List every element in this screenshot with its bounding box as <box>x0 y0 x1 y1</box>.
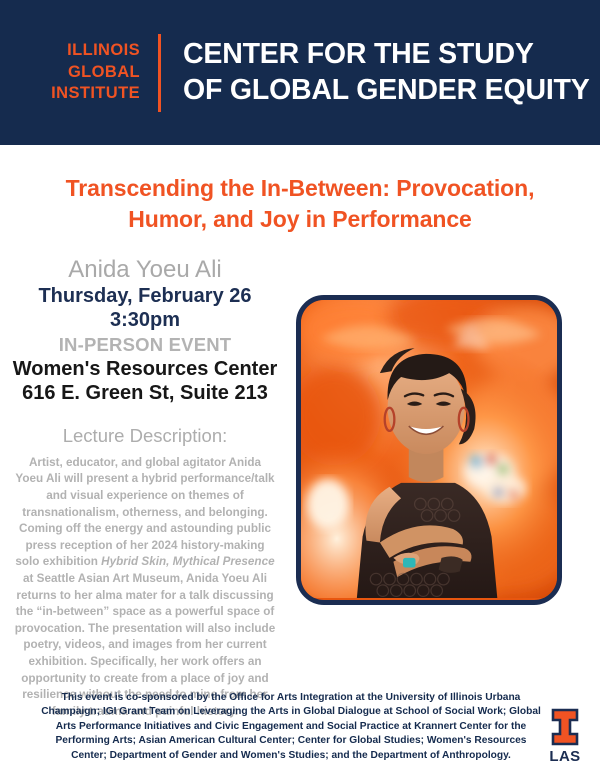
sponsor-credits: This event is co-sponsored by the Office… <box>28 691 554 763</box>
sponsor-line-3: Arts Performance Initiatives and Civic E… <box>28 720 554 734</box>
venue-name: Women's Resources Center <box>6 357 284 381</box>
center-name-line-1: CENTER FOR THE STUDY <box>183 37 590 73</box>
igi-line-1: ILLINOIS <box>67 40 140 62</box>
event-details-section: Anida Yoeu Ali Thursday, February 26 3:3… <box>0 257 600 721</box>
footer: This event is co-sponsored by the Office… <box>0 691 600 777</box>
speaker-photo <box>296 295 562 605</box>
las-logo: LAS <box>542 708 588 765</box>
sponsor-line-2: Champaign; IGI Grant Team on Leveraging … <box>28 705 554 719</box>
speaker-name: Anida Yoeu Ali <box>6 257 284 284</box>
las-label: LAS <box>542 748 588 765</box>
exhibition-title: Hybrid Skin, Mythical Presence <box>101 555 274 568</box>
page-title-line-1: Transcending the In-Between: Provocation… <box>18 173 582 204</box>
page-title: Transcending the In-Between: Provocation… <box>18 173 582 235</box>
speaker-photo-image <box>301 300 557 598</box>
block-i-icon <box>550 708 580 746</box>
header-banner: ILLINOIS GLOBAL INSTITUTE CENTER FOR THE… <box>0 0 600 145</box>
center-name-line-2: OF GLOBAL GENDER EQUITY <box>183 73 590 109</box>
lecture-description-body: Artist, educator, and global agitator An… <box>6 455 284 721</box>
illinois-global-institute-logo: ILLINOIS GLOBAL INSTITUTE <box>22 34 183 112</box>
venue-address: 616 E. Green St, Suite 213 <box>6 381 284 405</box>
event-mode-badge: IN-PERSON EVENT <box>6 333 284 357</box>
speaker-photo-column <box>290 257 600 605</box>
sponsor-line-4: Performing Arts; Asian American Cultural… <box>28 734 554 748</box>
block-i-glyph <box>550 708 580 746</box>
sponsor-line-5: Center; Department of Gender and Women's… <box>28 749 554 763</box>
center-name: CENTER FOR THE STUDY OF GLOBAL GENDER EQ… <box>183 37 590 109</box>
event-info-column: Anida Yoeu Ali Thursday, February 26 3:3… <box>0 257 290 721</box>
igi-line-2: GLOBAL <box>68 62 140 84</box>
lecture-description-heading: Lecture Description: <box>6 425 284 447</box>
igi-line-3: INSTITUTE <box>51 83 140 105</box>
event-date: Thursday, February 26 <box>6 285 284 308</box>
igi-wordmark: ILLINOIS GLOBAL INSTITUTE <box>22 34 158 112</box>
sponsor-line-1: This event is co-sponsored by the Office… <box>28 691 554 705</box>
lecture-body-part-1: Artist, educator, and global agitator An… <box>15 456 274 569</box>
page-title-line-2: Humor, and Joy in Performance <box>18 204 582 235</box>
vertical-divider-icon <box>158 34 161 112</box>
event-time: 3:30pm <box>6 308 284 332</box>
